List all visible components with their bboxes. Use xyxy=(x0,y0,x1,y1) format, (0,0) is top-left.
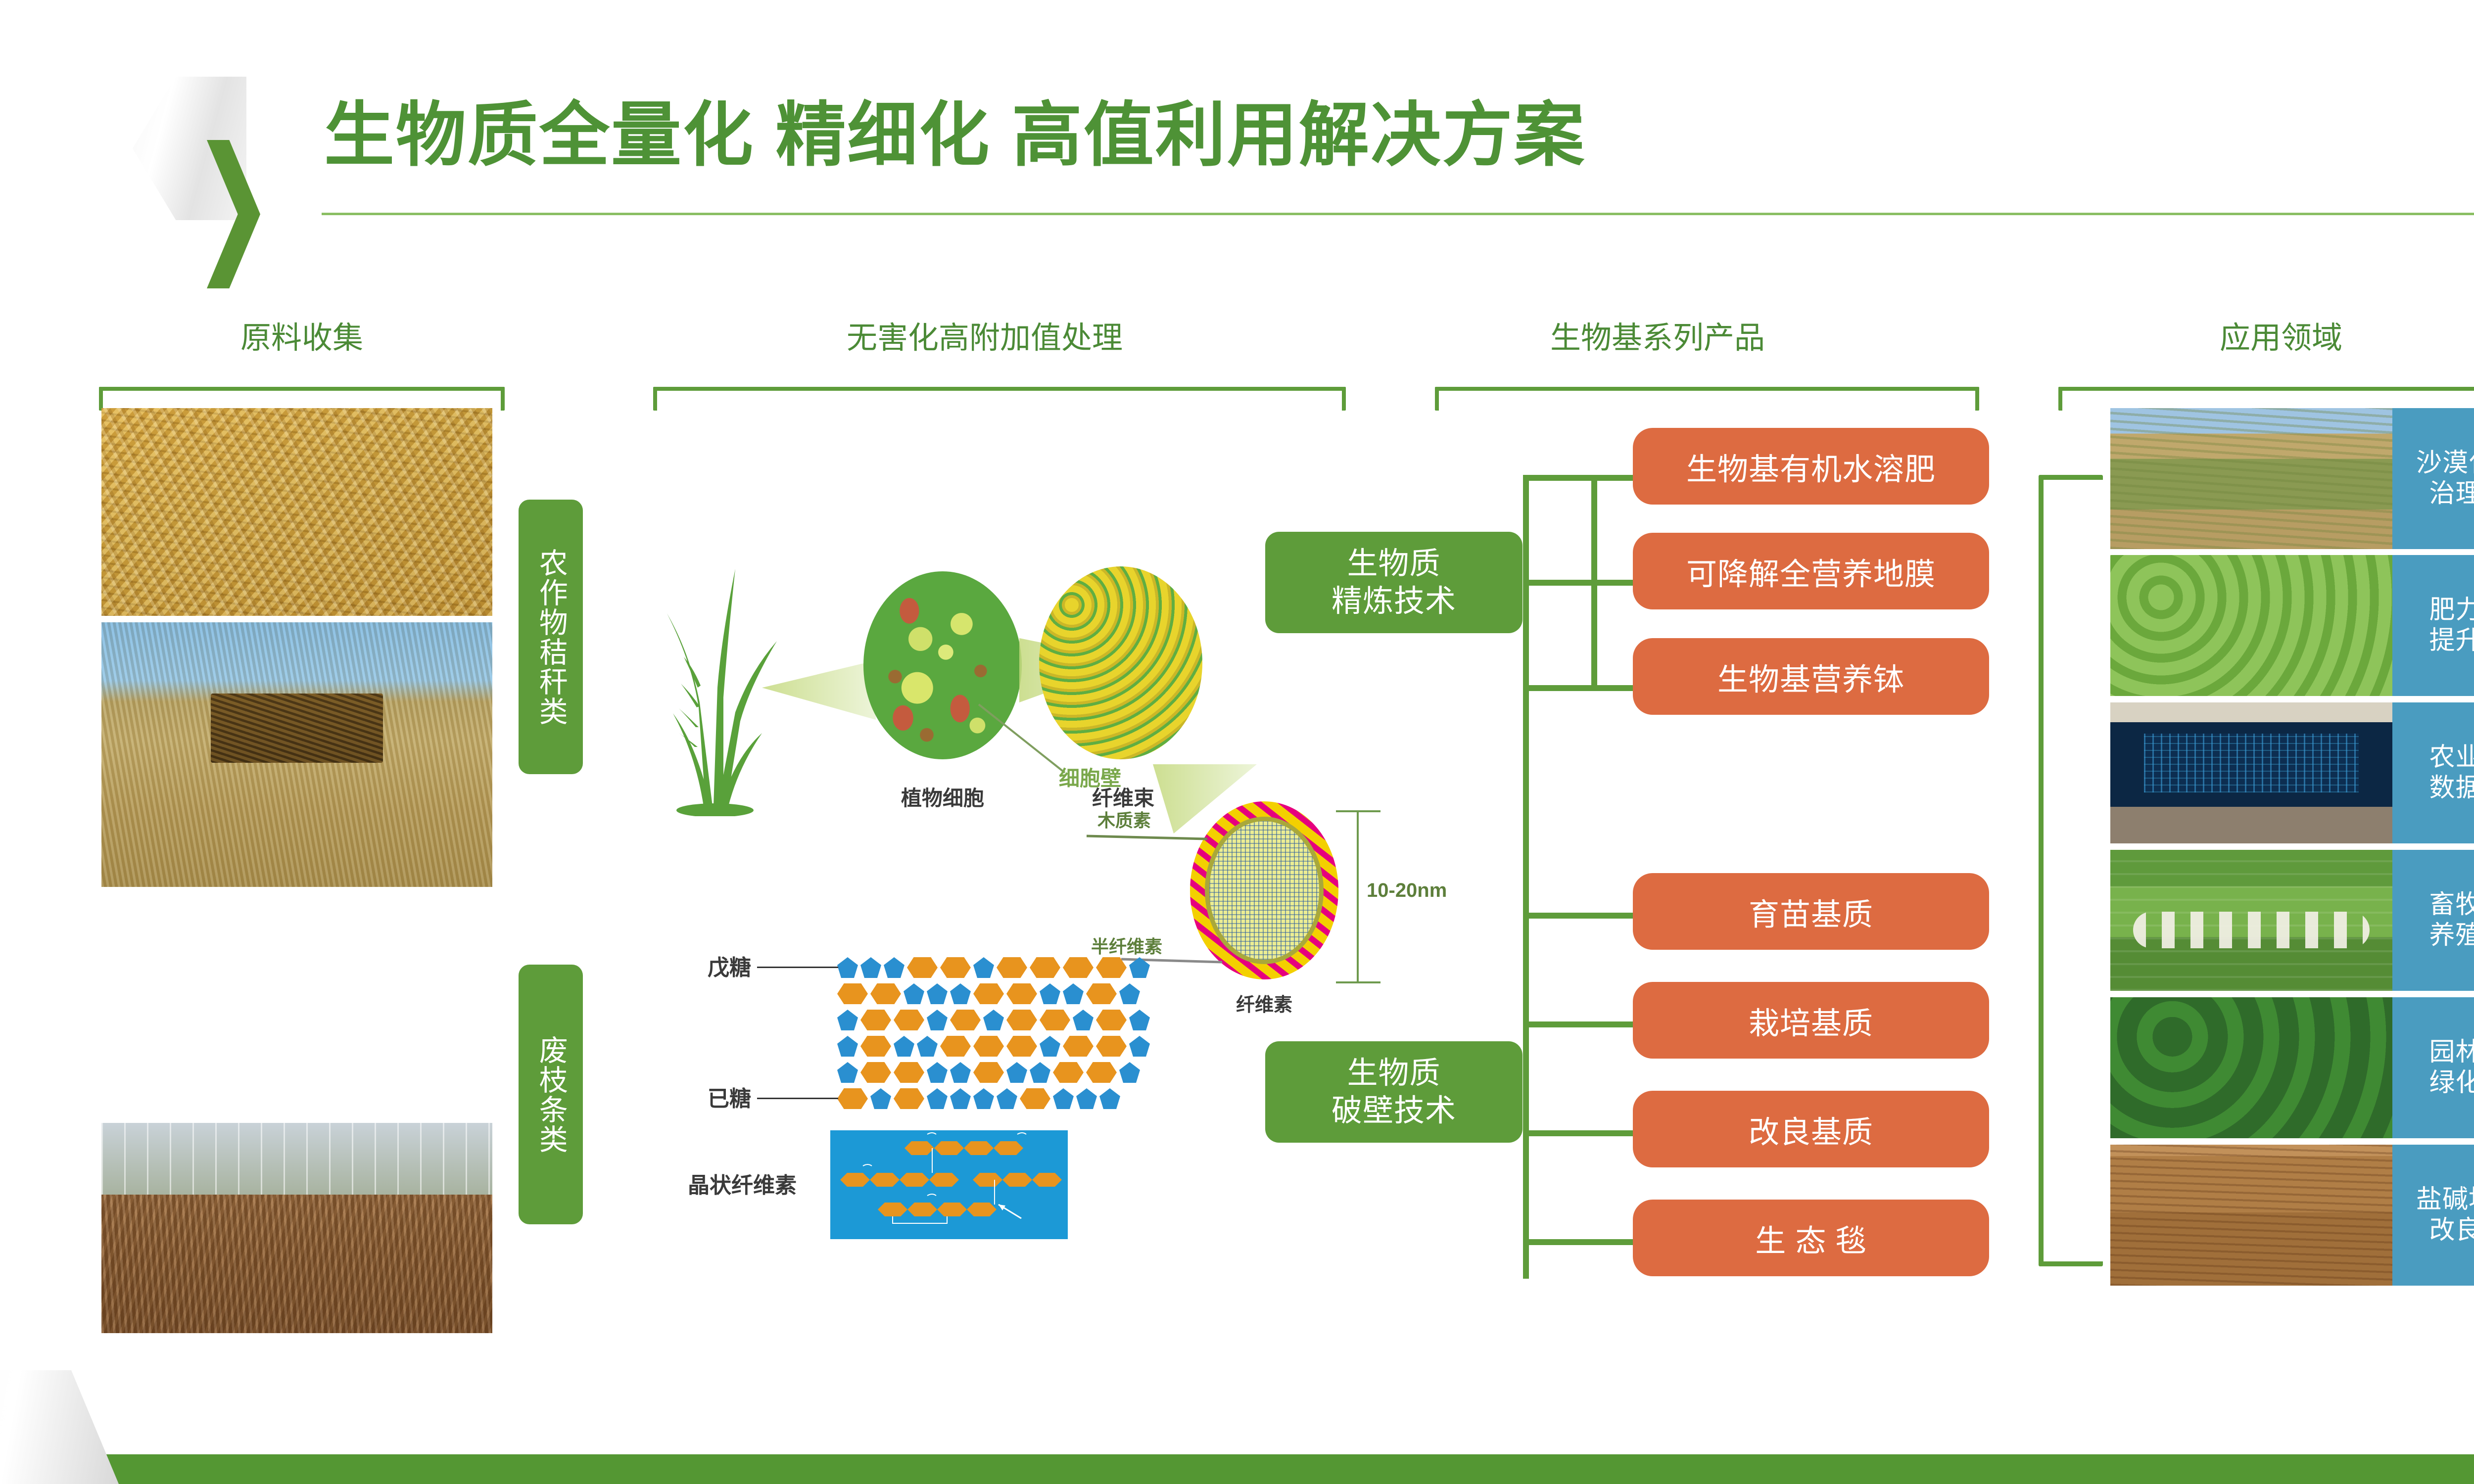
application-row-landscaping[interactable]: 园林 绿化 xyxy=(2110,997,2474,1138)
sheep-grazing-photo xyxy=(2110,850,2392,991)
hexose-unit xyxy=(973,983,1004,1004)
desert-control-photo xyxy=(2110,408,2392,549)
connector-stub-top xyxy=(1523,475,1597,481)
pentose-unit xyxy=(1053,1088,1074,1109)
plant-cell-label: 植物细胞 xyxy=(863,782,1022,812)
pentose-leader-line xyxy=(757,967,838,968)
page-title: 生物质全量化 精细化 高值利用解决方案 xyxy=(324,92,1586,180)
hexose-unit xyxy=(1006,983,1037,1004)
hexose-leader-line xyxy=(757,1098,838,1099)
application-row-desert[interactable]: 沙漠化 治理 xyxy=(2110,408,2474,549)
application-desert-line2: 治理 xyxy=(2416,479,2474,509)
hexose-unit xyxy=(837,983,868,1004)
pentose-unit xyxy=(837,1036,858,1057)
pentose-unit xyxy=(997,1088,1017,1109)
product-bio-nutrition-pot[interactable]: 生物基营养钵 xyxy=(1633,638,1989,715)
pentose-unit xyxy=(884,957,904,978)
scale-label: 10-20nm xyxy=(1367,880,1447,902)
application-tag-agri-data: 农业 数据 xyxy=(2392,702,2474,843)
pentose-unit xyxy=(1099,1088,1120,1109)
pentose-unit xyxy=(894,1036,914,1057)
connector-trunk-wall-breaking xyxy=(1523,913,1529,1279)
pentose-unit xyxy=(904,983,924,1004)
connector-trunk-refining xyxy=(1523,475,1529,979)
connector-stub-bottom xyxy=(1523,685,1597,691)
pentose-unit xyxy=(927,1088,948,1109)
hexose-unit xyxy=(950,1010,981,1030)
plant-illustration xyxy=(638,539,802,816)
hexose-unit xyxy=(973,1062,1004,1083)
pentose-unit xyxy=(1073,1010,1094,1030)
application-tag-saline-soil: 盐碱地 改良 xyxy=(2392,1145,2474,1286)
pentose-unit xyxy=(1030,1062,1050,1083)
pentose-unit xyxy=(950,1088,971,1109)
bracket-harmless-processing xyxy=(653,387,1346,411)
pruned-branches-photo xyxy=(101,894,492,1119)
pentose-unit xyxy=(927,983,948,1004)
arrow-line-product-2 xyxy=(1591,580,1639,586)
application-saline-soil-line1: 盐碱地 xyxy=(2416,1185,2474,1215)
application-row-agri-data[interactable]: 农业 数据 xyxy=(2110,702,2474,843)
arrow-line-product-5 xyxy=(1591,1021,1639,1027)
arrow-line-product-7 xyxy=(1591,1239,1639,1245)
cabbage-field-photo xyxy=(2110,555,2392,696)
product-bio-organic-fertilizer[interactable]: 生物基有机水溶肥 xyxy=(1633,428,1989,505)
hexose-unit xyxy=(1006,1036,1037,1057)
connector-stub-mid xyxy=(1523,580,1597,586)
application-row-fertility[interactable]: 肥力 提升 xyxy=(2110,555,2474,696)
arrow-line-product-3 xyxy=(1591,685,1639,691)
application-fertility-line2: 提升 xyxy=(2429,626,2474,656)
product-cultivation-substrate[interactable]: 栽培基质 xyxy=(1633,982,1989,1059)
application-tag-livestock: 畜牧 养殖 xyxy=(2392,850,2474,991)
hexose-unit xyxy=(1086,1062,1117,1083)
hexose-unit xyxy=(1006,1010,1037,1030)
pentose-unit xyxy=(1006,1062,1027,1083)
hexose-unit xyxy=(1063,957,1094,978)
tech-box-wall-breaking[interactable]: 生物质 破壁技术 xyxy=(1265,1041,1522,1143)
application-agri-data-line2: 数据 xyxy=(2429,773,2474,803)
title-divider xyxy=(322,213,2474,215)
application-livestock-line2: 养殖 xyxy=(2429,921,2474,951)
pentose-unit xyxy=(1119,1062,1140,1083)
crystal-cellulose-label: 晶状纤维素 xyxy=(688,1167,797,1199)
scale-bar-vertical xyxy=(1357,810,1359,983)
application-tag-landscaping: 园林 绿化 xyxy=(2392,997,2474,1138)
pentose-unit xyxy=(1040,1036,1060,1057)
tech-refining-line2: 精炼技术 xyxy=(1332,583,1456,620)
pentose-unit xyxy=(917,1036,938,1057)
pentose-unit xyxy=(1119,983,1140,1004)
pentose-unit xyxy=(1063,983,1084,1004)
pentose-unit xyxy=(973,957,994,978)
arrow-line-product-4 xyxy=(1591,913,1639,919)
agri-data-center-photo xyxy=(2110,702,2392,843)
pentose-unit xyxy=(927,1010,948,1030)
bracket-bio-products xyxy=(1435,387,1979,411)
hexose-unit xyxy=(860,1010,891,1030)
hexose-label: 已糖 xyxy=(708,1081,751,1113)
pentose-unit xyxy=(860,957,881,978)
application-landscaping-line2: 绿化 xyxy=(2429,1068,2474,1098)
hexose-unit xyxy=(907,957,938,978)
application-tag-desert: 沙漠化 治理 xyxy=(2392,408,2474,549)
application-bracket xyxy=(2039,475,2103,1266)
hexose-unit xyxy=(1086,983,1117,1004)
product-seedling-substrate[interactable]: 育苗基质 xyxy=(1633,873,1989,950)
baled-straw-field-photo xyxy=(101,622,492,887)
footer-bar xyxy=(0,1454,2474,1484)
orchard-pruning-photo xyxy=(101,1123,492,1333)
hexose-unit xyxy=(860,1036,891,1057)
application-fertility-line1: 肥力 xyxy=(2429,595,2474,625)
hexose-unit xyxy=(860,1062,891,1083)
footer-decoration-shape xyxy=(0,1370,119,1484)
application-desert-line1: 沙漠化 xyxy=(2416,448,2474,478)
arrow-line-product-1 xyxy=(1591,475,1639,481)
cellulose-core xyxy=(1209,821,1319,960)
tech-refining-line1: 生物质 xyxy=(1332,545,1456,583)
cellulose-label: 纤维素 xyxy=(1190,989,1338,1017)
infographic-canvas: 生物质全量化 精细化 高值利用解决方案 原料收集 无害化高附加值处理 生物基系列… xyxy=(0,0,2474,1484)
hexose-unit xyxy=(940,957,971,978)
product-improvement-substrate[interactable]: 改良基质 xyxy=(1633,1091,1989,1167)
hexose-unit xyxy=(1096,957,1127,978)
pentose-unit xyxy=(1129,1010,1150,1030)
hexose-unit xyxy=(837,1088,868,1109)
pentose-unit xyxy=(927,1062,948,1083)
pentose-unit xyxy=(1040,983,1060,1004)
scale-bar-top xyxy=(1336,810,1380,812)
hexose-unit xyxy=(940,1036,971,1057)
application-row-saline-soil[interactable]: 盐碱地 改良 xyxy=(2110,1145,2474,1286)
connector-stub-wb-2 xyxy=(1523,1021,1597,1027)
pentose-unit xyxy=(950,1062,971,1083)
tech-box-refining[interactable]: 生物质 精炼技术 xyxy=(1265,532,1522,633)
application-agri-data-line1: 农业 xyxy=(2429,742,2474,773)
application-tag-fertility: 肥力 提升 xyxy=(2392,555,2474,696)
pentose-unit xyxy=(837,1010,858,1030)
section-title-harmless-processing: 无害化高附加值处理 xyxy=(722,313,1247,357)
corn-straw-photo xyxy=(101,408,492,616)
lignin-label: 木质素 xyxy=(1097,806,1151,832)
pentose-unit xyxy=(870,1088,891,1109)
tech-wall-breaking-line1: 生物质 xyxy=(1332,1055,1456,1092)
bracket-application-fields xyxy=(2058,387,2474,411)
hexose-unit xyxy=(870,983,901,1004)
application-saline-soil-line2: 改良 xyxy=(2416,1215,2474,1246)
hexose-unit xyxy=(1096,1010,1127,1030)
pentose-unit xyxy=(973,1088,994,1109)
hexose-unit xyxy=(997,957,1027,978)
hexose-unit xyxy=(894,1010,924,1030)
connector-stub-wb-3 xyxy=(1523,1130,1597,1136)
pentose-label: 戊糖 xyxy=(708,950,751,981)
category-label-crop-straw: 农作物秸秆类 xyxy=(519,500,583,774)
product-ecological-blanket[interactable]: 生 态 毯 xyxy=(1633,1200,1989,1276)
hexose-unit xyxy=(894,1088,924,1109)
hexose-unit xyxy=(894,1062,924,1083)
application-landscaping-line1: 园林 xyxy=(2429,1037,2474,1067)
connector-stub-wb-4 xyxy=(1523,1239,1597,1245)
tech-wall-breaking-line2: 破壁技术 xyxy=(1332,1092,1456,1130)
hexose-unit xyxy=(1030,957,1060,978)
section-title-application-fields: 应用领域 xyxy=(2098,313,2464,357)
pentose-unit xyxy=(837,1062,858,1083)
hexose-unit xyxy=(1063,1036,1094,1057)
bracket-raw-material xyxy=(99,387,505,411)
pentose-unit xyxy=(1129,957,1150,978)
pentose-unit xyxy=(983,1010,1004,1030)
arrow-line-product-6 xyxy=(1591,1130,1639,1136)
hexagon-chevron-logo xyxy=(133,77,265,220)
scale-bar-bottom xyxy=(1336,981,1380,983)
category-label-waste-branches: 废枝条类 xyxy=(519,965,583,1224)
hexose-unit xyxy=(1020,1088,1050,1109)
park-landscape-photo xyxy=(2110,997,2392,1138)
section-title-raw-material: 原料收集 xyxy=(163,313,440,357)
pentose-unit xyxy=(837,957,858,978)
connector-stub-wb-1 xyxy=(1523,913,1597,919)
application-livestock-line1: 畜牧 xyxy=(2429,890,2474,920)
saline-soil-photo xyxy=(2110,1145,2392,1286)
pentose-unit xyxy=(950,983,971,1004)
section-title-bio-products: 生物基系列产品 xyxy=(1450,313,1865,357)
hexose-unit xyxy=(1053,1062,1084,1083)
application-row-livestock[interactable]: 畜牧 养殖 xyxy=(2110,850,2474,991)
product-degradable-mulch-film[interactable]: 可降解全营养地膜 xyxy=(1633,533,1989,609)
crystal-cellulose-panel xyxy=(830,1130,1068,1239)
pentose-unit xyxy=(1129,1036,1150,1057)
hexose-unit xyxy=(973,1036,1004,1057)
hexose-unit xyxy=(1040,1010,1070,1030)
hexose-unit xyxy=(1096,1036,1127,1057)
hemicellulose-label: 半纤维素 xyxy=(1091,932,1162,958)
pentose-unit xyxy=(1076,1088,1097,1109)
